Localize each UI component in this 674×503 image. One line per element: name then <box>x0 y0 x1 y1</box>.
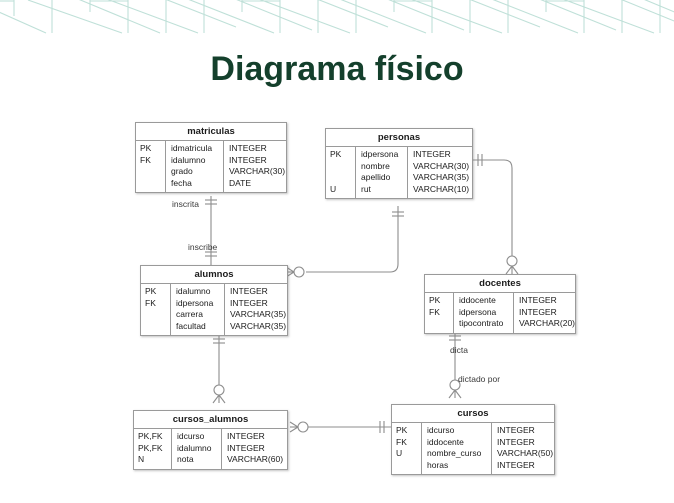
field-cell: facultad <box>176 321 224 333</box>
relationship-label-dictado-por: dictado por <box>458 374 500 384</box>
key-cell <box>330 172 355 184</box>
entity-alumnos[interactable]: alumnos PK FK idalumno idpersona carrera… <box>140 265 288 336</box>
entity-columns: PK FK iddocente idpersona tipocontrato I… <box>425 293 575 333</box>
column-names: idcurso iddocente nombre_curso horas <box>422 423 492 474</box>
entity-columns: PK FK idalumno idpersona carrera faculta… <box>141 284 287 335</box>
type-cell: VARCHAR(10) <box>413 184 472 196</box>
column-types: INTEGER INTEGER VARCHAR(30) DATE <box>224 141 286 192</box>
entity-title: alumnos <box>141 266 287 284</box>
type-cell: VARCHAR(35) <box>413 172 472 184</box>
entity-title: matriculas <box>136 123 286 141</box>
column-names: idpersona nombre apellido rut <box>356 147 408 198</box>
field-cell: tipocontrato <box>459 318 513 330</box>
entity-personas[interactable]: personas PK U idpersona nombre apellido … <box>325 128 473 199</box>
type-cell: VARCHAR(60) <box>227 454 287 466</box>
key-cell: U <box>330 184 355 196</box>
key-cell <box>140 166 165 178</box>
column-names: iddocente idpersona tipocontrato <box>454 293 514 333</box>
type-cell: INTEGER <box>227 431 287 443</box>
er-diagram-canvas: matriculas PK FK idmatricula idalumno gr… <box>0 0 674 503</box>
key-cell: PK,FK <box>138 431 171 443</box>
type-cell: VARCHAR(20) <box>519 318 575 330</box>
field-cell: idcurso <box>427 425 491 437</box>
column-names: idalumno idpersona carrera facultad <box>171 284 225 335</box>
field-cell: idalumno <box>171 155 223 167</box>
key-cell: U <box>396 448 421 460</box>
key-cell: PK <box>330 149 355 161</box>
type-cell: VARCHAR(35) <box>230 321 287 333</box>
entity-columns: PK,FK PK,FK N idcurso idalumno nota INTE… <box>134 429 287 469</box>
entity-title: cursos_alumnos <box>134 411 287 429</box>
type-cell: INTEGER <box>519 307 575 319</box>
field-cell: horas <box>427 460 491 472</box>
field-cell: rut <box>361 184 407 196</box>
key-cell <box>396 460 421 472</box>
type-cell: VARCHAR(30) <box>413 161 472 173</box>
field-cell: carrera <box>176 309 224 321</box>
type-cell: INTEGER <box>230 298 287 310</box>
column-types: INTEGER INTEGER VARCHAR(20) <box>514 293 575 333</box>
key-cell <box>145 309 170 321</box>
column-keys: PK U <box>326 147 356 198</box>
column-keys: PK FK <box>425 293 454 333</box>
field-cell: apellido <box>361 172 407 184</box>
key-cell: PK,FK <box>138 443 171 455</box>
type-cell: VARCHAR(30) <box>229 166 286 178</box>
type-cell: INTEGER <box>229 155 286 167</box>
field-cell: nota <box>177 454 221 466</box>
connector-personas-docentes <box>473 160 512 258</box>
column-names: idmatricula idalumno grado fecha <box>166 141 224 192</box>
type-cell: DATE <box>229 178 286 190</box>
entity-title: docentes <box>425 275 575 293</box>
key-cell <box>429 318 453 330</box>
entity-title: cursos <box>392 405 554 423</box>
entity-columns: PK FK U idcurso iddocente nombre_curso h… <box>392 423 554 474</box>
key-cell: FK <box>396 437 421 449</box>
key-cell: PK <box>140 143 165 155</box>
field-cell: idmatricula <box>171 143 223 155</box>
field-cell: idalumno <box>177 443 221 455</box>
type-cell: VARCHAR(50) <box>497 448 554 460</box>
field-cell: idpersona <box>176 298 224 310</box>
type-cell: INTEGER <box>497 437 554 449</box>
key-cell: FK <box>140 155 165 167</box>
type-cell: INTEGER <box>227 443 287 455</box>
relationship-label-inscrita: inscrita <box>172 199 199 209</box>
entity-columns: PK FK idmatricula idalumno grado fecha I… <box>136 141 286 192</box>
key-cell <box>330 161 355 173</box>
column-types: INTEGER INTEGER VARCHAR(35) VARCHAR(35) <box>225 284 287 335</box>
key-cell: PK <box>429 295 453 307</box>
connector-personas-alumnos <box>306 206 398 272</box>
column-keys: PK FK <box>136 141 166 192</box>
type-cell: VARCHAR(35) <box>230 309 287 321</box>
field-cell: nombre_curso <box>427 448 491 460</box>
type-cell: INTEGER <box>229 143 286 155</box>
key-cell: N <box>138 454 171 466</box>
key-cell: PK <box>396 425 421 437</box>
entity-columns: PK U idpersona nombre apellido rut INTEG… <box>326 147 472 198</box>
key-cell: FK <box>429 307 453 319</box>
key-cell: PK <box>145 286 170 298</box>
relationship-label-dicta: dicta <box>450 345 468 355</box>
field-cell: iddocente <box>459 295 513 307</box>
column-names: idcurso idalumno nota <box>172 429 222 469</box>
field-cell: nombre <box>361 161 407 173</box>
entity-matriculas[interactable]: matriculas PK FK idmatricula idalumno gr… <box>135 122 287 193</box>
column-types: INTEGER INTEGER VARCHAR(60) <box>222 429 287 469</box>
field-cell: idpersona <box>459 307 513 319</box>
entity-cursos-alumnos[interactable]: cursos_alumnos PK,FK PK,FK N idcurso ida… <box>133 410 288 470</box>
field-cell: idalumno <box>176 286 224 298</box>
type-cell: INTEGER <box>413 149 472 161</box>
relationship-label-inscribe: inscribe <box>188 242 217 252</box>
column-keys: PK,FK PK,FK N <box>134 429 172 469</box>
column-keys: PK FK U <box>392 423 422 474</box>
field-cell: grado <box>171 166 223 178</box>
type-cell: INTEGER <box>497 425 554 437</box>
column-keys: PK FK <box>141 284 171 335</box>
column-types: INTEGER VARCHAR(30) VARCHAR(35) VARCHAR(… <box>408 147 472 198</box>
field-cell: fecha <box>171 178 223 190</box>
entity-docentes[interactable]: docentes PK FK iddocente idpersona tipoc… <box>424 274 576 334</box>
field-cell: iddocente <box>427 437 491 449</box>
relationship-connectors <box>0 0 674 503</box>
type-cell: INTEGER <box>497 460 554 472</box>
key-cell: FK <box>145 298 170 310</box>
field-cell: idcurso <box>177 431 221 443</box>
key-cell <box>140 178 165 190</box>
entity-title: personas <box>326 129 472 147</box>
column-types: INTEGER INTEGER VARCHAR(50) INTEGER <box>492 423 554 474</box>
key-cell <box>145 321 170 333</box>
type-cell: INTEGER <box>230 286 287 298</box>
entity-cursos[interactable]: cursos PK FK U idcurso iddocente nombre_… <box>391 404 555 475</box>
field-cell: idpersona <box>361 149 407 161</box>
type-cell: INTEGER <box>519 295 575 307</box>
